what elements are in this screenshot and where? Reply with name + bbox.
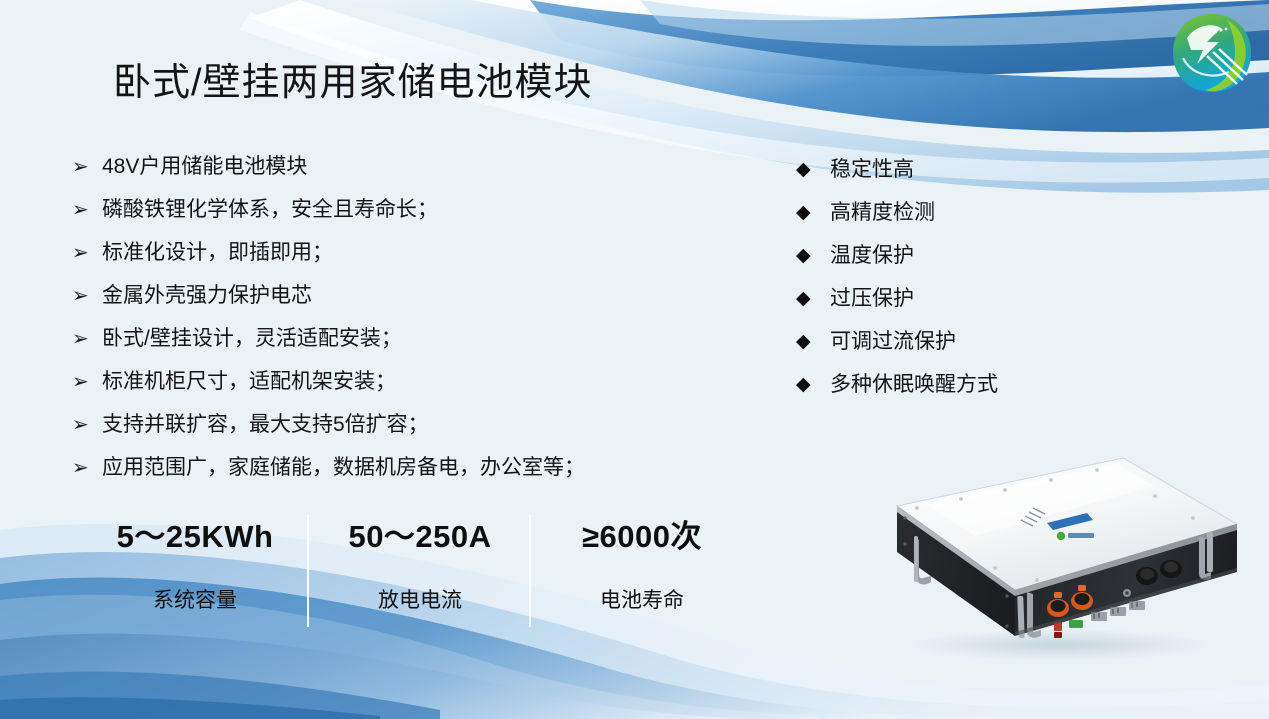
list-item-label: 稳定性高 [830,155,914,185]
diamond-bullet-icon: ◆ [796,198,830,228]
arrow-bullet-icon: ➢ [72,367,102,397]
feature-list-left: ➢ 48V户用储能电池模块 ➢ 磷酸铁锂化学体系，安全且寿命长； ➢ 标准化设计… [72,152,722,496]
stat-divider-1 [307,515,309,627]
stat-item-cycle-life: ≥6000次 电池寿命 [532,515,752,617]
list-item-label: 金属外壳强力保护电芯 [102,281,312,311]
diamond-bullet-icon: ◆ [796,241,830,271]
list-item: ➢ 应用范围广，家庭储能，数据机房备电，办公室等； [72,453,722,496]
diamond-bullet-icon: ◆ [796,370,830,400]
list-item-label: 过压保护 [830,284,914,314]
arrow-bullet-icon: ➢ [72,238,102,268]
stats-row: 5～25KWh 系统容量 50～250A 放电电流 ≥6000次 电池寿命 [85,515,745,627]
list-item: ◆ 温度保护 [796,241,1096,284]
page-title: 卧式/壁挂两用家储电池模块 [113,59,593,107]
list-item-label: 标准化设计，即插即用； [102,238,333,268]
diamond-bullet-icon: ◆ [796,284,830,314]
diamond-bullet-icon: ◆ [796,155,830,185]
list-item: ➢ 48V户用储能电池模块 [72,152,722,195]
list-item: ➢ 标准机柜尺寸，适配机架安装； [72,367,722,410]
stat-label: 放电电流 [310,585,530,617]
feature-list-right: ◆ 稳定性高 ◆ 高精度检测 ◆ 温度保护 ◆ 过压保护 ◆ 可调过流保护 ◆ … [796,155,1096,413]
list-item: ◆ 高精度检测 [796,198,1096,241]
stat-item-current: 50～250A 放电电流 [310,515,530,617]
list-item-label: 48V户用储能电池模块 [102,152,307,182]
list-item: ◆ 稳定性高 [796,155,1096,198]
arrow-bullet-icon: ➢ [72,453,102,483]
arrow-bullet-icon: ➢ [72,281,102,311]
stat-value: ≥6000次 [532,515,752,559]
list-item: ◆ 多种休眠唤醒方式 [796,370,1096,413]
diamond-bullet-icon: ◆ [796,327,830,357]
arrow-bullet-icon: ➢ [72,152,102,182]
list-item-label: 应用范围广，家庭储能，数据机房备电，办公室等； [102,453,585,483]
stat-divider-2 [529,515,531,627]
company-leaf-plug-logo [1167,8,1257,98]
list-item-label: 标准机柜尺寸，适配机架安装； [102,367,396,397]
list-item-label: 支持并联扩容，最大支持5倍扩容； [102,410,429,440]
list-item: ➢ 金属外壳强力保护电芯 [72,281,722,324]
list-item: ➢ 卧式/壁挂设计，灵活适配安装； [72,324,722,367]
stat-item-capacity: 5～25KWh 系统容量 [85,515,305,617]
stat-value: 50～250A [310,515,530,559]
slide-canvas: 卧式/壁挂两用家储电池模块 ➢ 48V户用储能电池模块 ➢ 磷酸铁锂化学体系，安… [0,0,1269,719]
list-item-label: 可调过流保护 [830,327,956,357]
list-item-label: 高精度检测 [830,198,935,228]
list-item: ➢ 支持并联扩容，最大支持5倍扩容； [72,410,722,453]
battery-module-photo [855,440,1255,675]
list-item: ➢ 磷酸铁锂化学体系，安全且寿命长； [72,195,722,238]
list-item: ◆ 过压保护 [796,284,1096,327]
arrow-bullet-icon: ➢ [72,324,102,354]
list-item-label: 磷酸铁锂化学体系，安全且寿命长； [102,195,438,225]
arrow-bullet-icon: ➢ [72,195,102,225]
list-item: ➢ 标准化设计，即插即用； [72,238,722,281]
list-item-label: 卧式/壁挂设计，灵活适配安装； [102,324,402,354]
list-item: ◆ 可调过流保护 [796,327,1096,370]
list-item-label: 多种休眠唤醒方式 [830,370,998,400]
stat-value: 5～25KWh [85,515,305,559]
arrow-bullet-icon: ➢ [72,410,102,440]
list-item-label: 温度保护 [830,241,914,271]
stat-label: 电池寿命 [532,585,752,617]
stat-label: 系统容量 [85,585,305,617]
